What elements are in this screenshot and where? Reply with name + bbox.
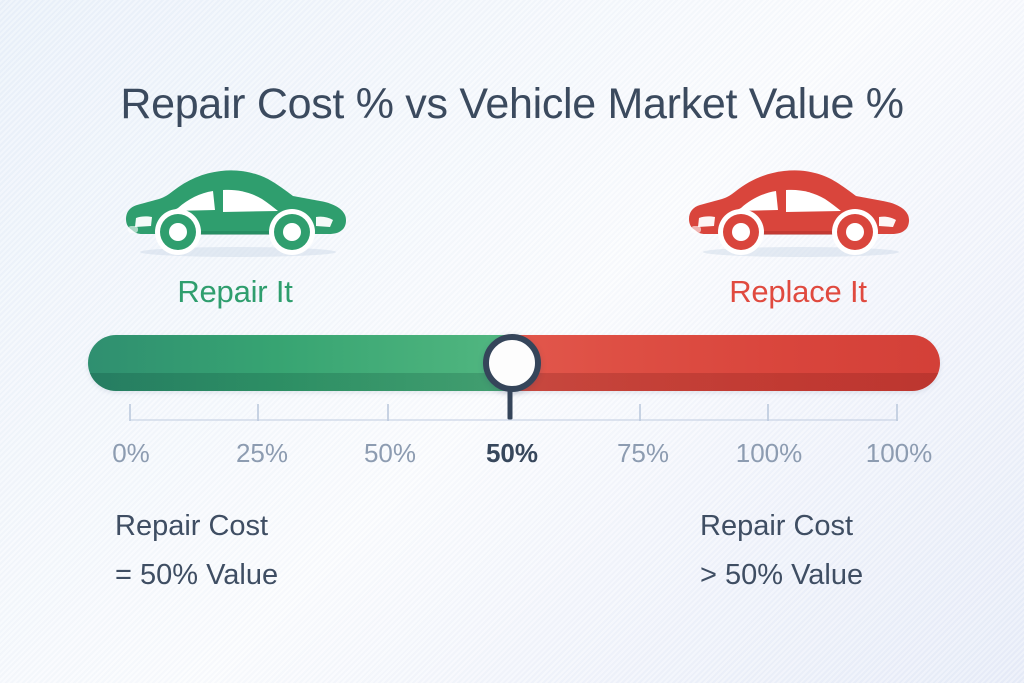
axis-tick-label-5: 100% (736, 438, 803, 469)
page-title: Repair Cost % vs Vehicle Market Value % (0, 80, 1024, 129)
axis-tick-label-current: 50% (486, 438, 538, 469)
option-label-repair-it: Repair It (85, 274, 385, 310)
axis-tick-label-2: 50% (364, 438, 416, 469)
axis-tick-label-4: 75% (617, 438, 669, 469)
infographic-canvas: Repair Cost % vs Vehicle Market Value % (0, 0, 1024, 683)
axis-tick (767, 404, 769, 421)
axis-tick-label-6: 100% (866, 438, 933, 469)
caption-replace-line2: > 50% Value (700, 551, 863, 600)
axis-tick (129, 404, 131, 421)
caption-replace: Repair Cost > 50% Value (700, 502, 863, 599)
axis-tick (257, 404, 259, 421)
caption-replace-line1: Repair Cost (700, 502, 863, 551)
caption-repair: Repair Cost = 50% Value (115, 502, 278, 599)
caption-repair-line1: Repair Cost (115, 502, 278, 551)
axis-tick (387, 404, 389, 421)
option-repair-it[interactable]: Repair It (85, 168, 385, 310)
option-replace-it[interactable]: Replace It (648, 168, 948, 310)
axis-tick-label-0: 0% (112, 438, 150, 469)
caption-repair-line2: = 50% Value (115, 551, 278, 600)
axis-tick (896, 404, 898, 421)
axis-baseline (130, 419, 898, 421)
car-icon-red (683, 168, 913, 266)
axis-tick-label-1: 25% (236, 438, 288, 469)
axis-tick (639, 404, 641, 421)
slider-knob[interactable] (483, 334, 541, 392)
option-label-replace-it: Replace It (648, 274, 948, 310)
car-icon-green (120, 168, 350, 266)
